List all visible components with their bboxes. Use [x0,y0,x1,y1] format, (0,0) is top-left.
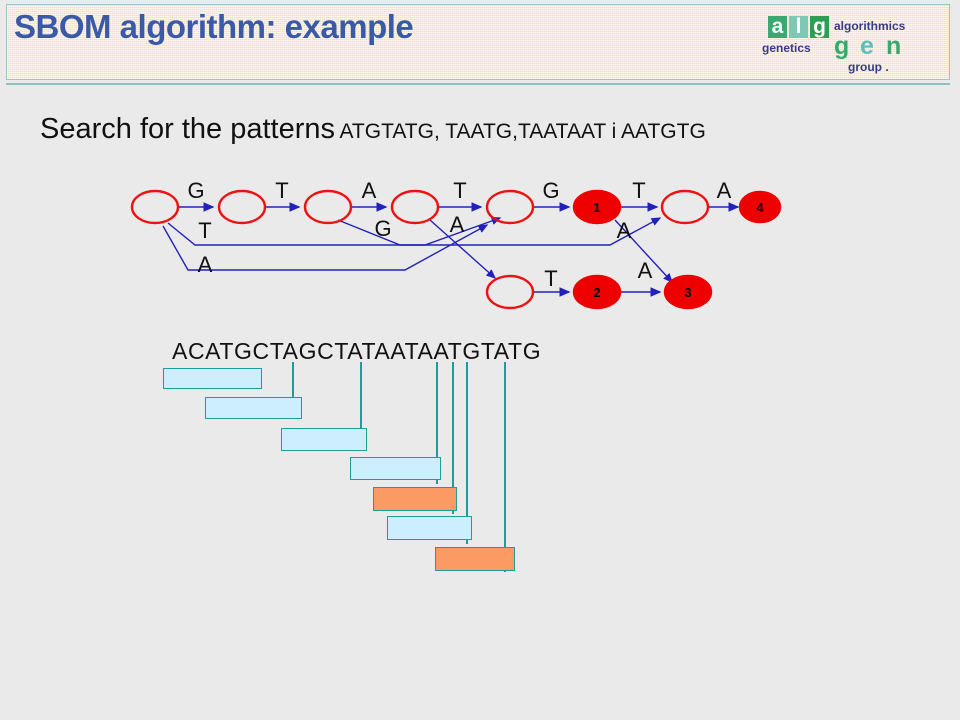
window-connector-line [504,362,506,572]
window-box-match[interactable] [373,487,457,511]
window-box[interactable] [163,368,262,389]
window-box[interactable] [350,457,441,480]
window-box[interactable] [205,397,302,419]
window-boxes-layer [0,0,960,720]
window-box[interactable] [387,516,472,540]
window-box-match[interactable] [435,547,515,571]
window-box[interactable] [281,428,367,451]
